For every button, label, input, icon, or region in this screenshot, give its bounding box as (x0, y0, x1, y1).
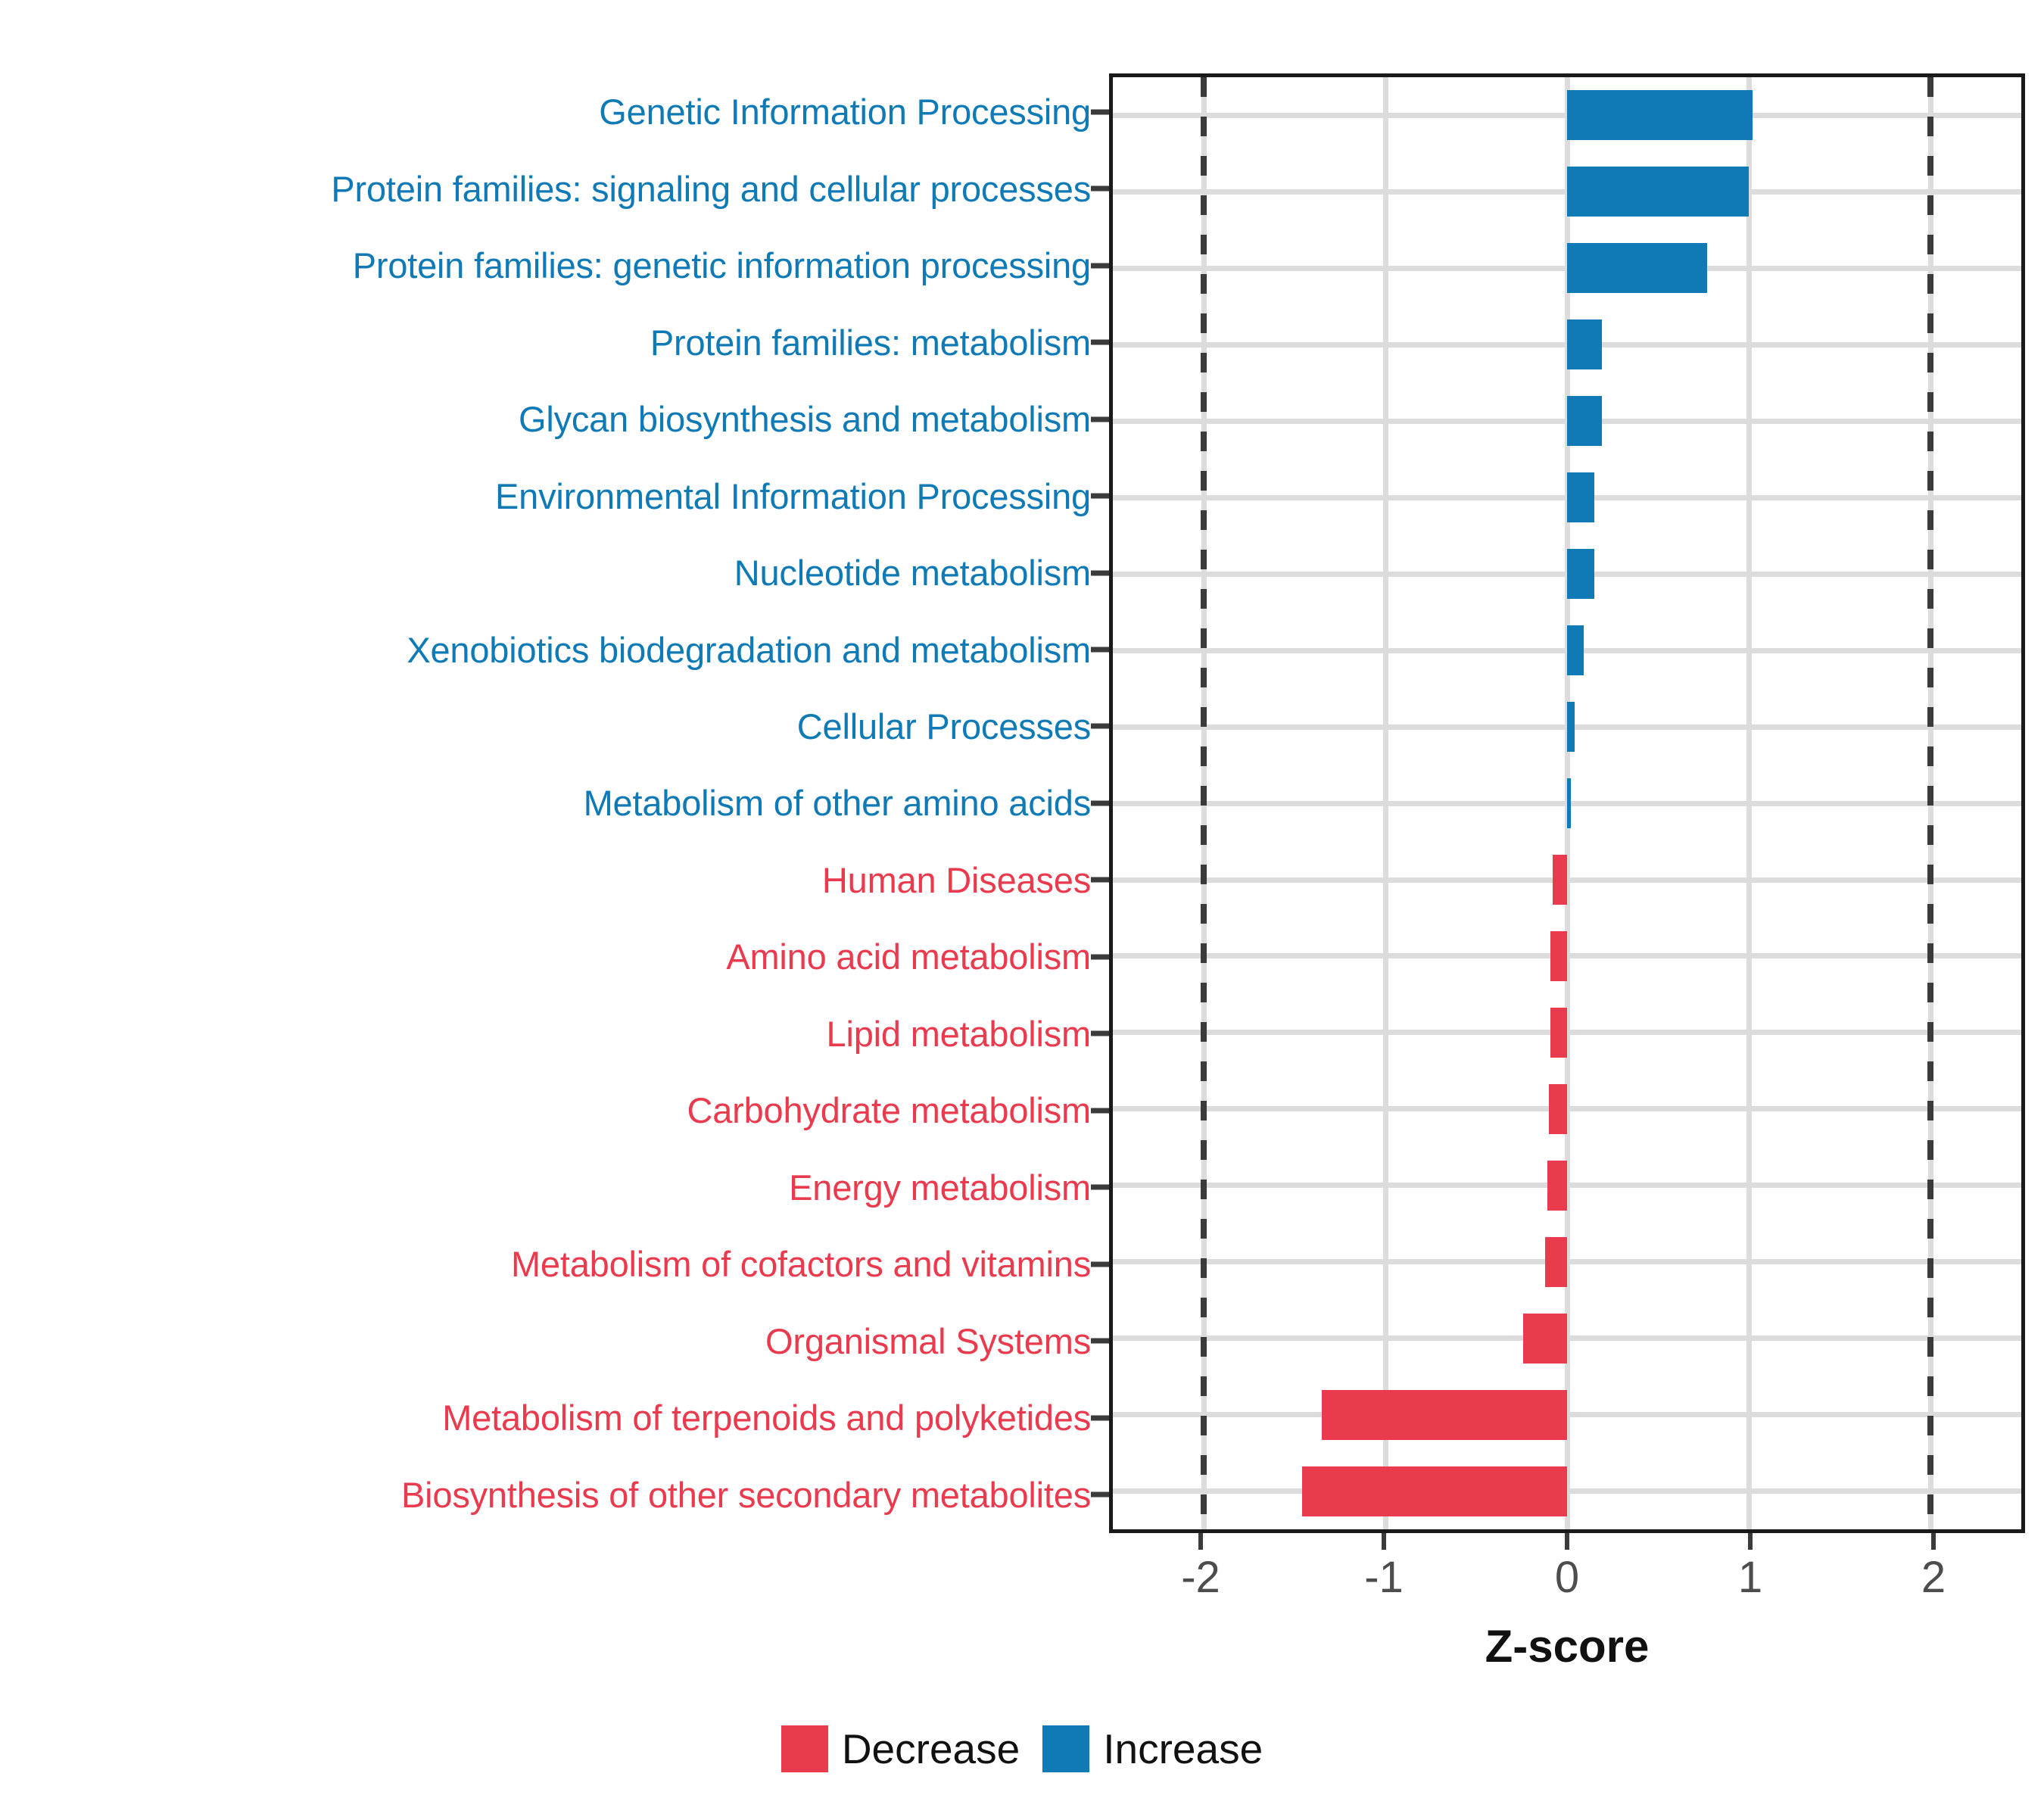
y-tick-mark (1091, 416, 1109, 422)
legend-item[interactable]: Increase (1042, 1725, 1263, 1773)
y-tick-row (1091, 227, 1109, 304)
y-tick-row (1091, 304, 1109, 380)
y-axis-label: Nucleotide metabolism (734, 555, 1091, 591)
y-tick-mark (1091, 1492, 1109, 1498)
y-tick-row (1091, 73, 1109, 150)
y-axis-label: Xenobiotics biodegradation and metabolis… (407, 632, 1091, 668)
x-tick-mark (1382, 1533, 1386, 1550)
plot-panel (1109, 73, 2025, 1533)
y-tick-mark (1091, 1415, 1109, 1420)
y-tick-mark (1091, 340, 1109, 345)
legend-label: Decrease (842, 1725, 1020, 1773)
y-tick-mark (1091, 1031, 1109, 1036)
bar-row (1113, 689, 2021, 765)
x-axis-title: Z-score (1109, 1620, 2025, 1672)
bar[interactable] (1567, 90, 1753, 140)
bar[interactable] (1567, 549, 1594, 599)
y-tick-row (1091, 996, 1109, 1072)
y-tick-row (1091, 535, 1109, 611)
bar[interactable] (1549, 1084, 1567, 1134)
y-axis-label: Lipid metabolism (827, 1016, 1091, 1052)
y-tick-mark (1091, 1108, 1109, 1113)
x-axis-tick-labels: -2-1012 (1109, 1552, 2025, 1605)
y-axis-label: Environmental Information Processing (495, 478, 1091, 514)
y-tick-row (1091, 457, 1109, 534)
y-tick-mark (1091, 1339, 1109, 1344)
y-tick-row (1091, 1149, 1109, 1226)
y-tick-mark (1091, 724, 1109, 729)
y-axis-label: Protein families: signaling and cellular… (331, 171, 1091, 207)
y-tick-mark (1091, 800, 1109, 806)
y-tick-row (1091, 1379, 1109, 1456)
bar-row (1113, 383, 2021, 460)
bar[interactable] (1545, 1237, 1567, 1287)
bar-series (1113, 77, 2021, 1529)
y-tick-row (1091, 688, 1109, 765)
bar-row (1113, 612, 2021, 689)
y-tick-mark (1091, 877, 1109, 883)
y-tick-row (1091, 1226, 1109, 1302)
x-tick-label: -1 (1364, 1552, 1404, 1603)
y-axis-label: Metabolism of terpenoids and polyketides (442, 1400, 1091, 1435)
y-axis-label: Carbohydrate metabolism (687, 1092, 1091, 1128)
chart-figure: Genetic Information ProcessingProtein fa… (0, 0, 2044, 1817)
y-axis-label: Energy metabolism (789, 1170, 1091, 1205)
bar-row (1113, 230, 2021, 307)
bar-row (1113, 77, 2021, 154)
y-tick-row (1091, 611, 1109, 687)
legend-label: Increase (1103, 1725, 1263, 1773)
y-axis-label: Human Diseases (822, 862, 1091, 898)
legend-swatch (1042, 1725, 1089, 1772)
y-tick-row (1091, 918, 1109, 995)
bar-row (1113, 307, 2021, 383)
y-axis-label-row: Xenobiotics biodegradation and metabolis… (0, 611, 1101, 687)
y-axis-label: Organismal Systems (765, 1323, 1091, 1359)
bar[interactable] (1547, 1161, 1567, 1211)
chart-legend: DecreaseIncrease (0, 1725, 2044, 1773)
x-tick-mark (1198, 1533, 1203, 1550)
y-tick-row (1091, 842, 1109, 918)
y-axis-label-row: Energy metabolism (0, 1149, 1101, 1226)
bar[interactable] (1302, 1466, 1567, 1516)
x-tick-label: 1 (1738, 1552, 1762, 1603)
bar[interactable] (1567, 243, 1707, 293)
y-axis-label-row: Protein families: signaling and cellular… (0, 150, 1101, 226)
y-tick-row (1091, 381, 1109, 457)
y-axis-label: Genetic Information Processing (599, 94, 1091, 129)
y-axis-label-row: Organismal Systems (0, 1303, 1101, 1379)
y-axis-label-row: Amino acid metabolism (0, 918, 1101, 995)
y-axis-label: Protein families: genetic information pr… (353, 248, 1091, 283)
y-axis-label-row: Metabolism of terpenoids and polyketides (0, 1379, 1101, 1456)
x-tick-label: -2 (1181, 1552, 1220, 1603)
x-tick-mark (1931, 1533, 1936, 1550)
y-tick-row (1091, 1456, 1109, 1532)
bar[interactable] (1523, 1314, 1567, 1364)
y-tick-mark (1091, 494, 1109, 499)
y-axis-labels: Genetic Information ProcessingProtein fa… (0, 73, 1101, 1533)
y-tick-mark (1091, 109, 1109, 114)
y-axis-label-row: Human Diseases (0, 842, 1101, 918)
x-tick-mark (1748, 1533, 1753, 1550)
bar-row (1113, 536, 2021, 612)
y-tick-row (1091, 1303, 1109, 1379)
bar-row (1113, 1453, 2021, 1529)
legend-item[interactable]: Decrease (781, 1725, 1020, 1773)
y-axis-label-row: Nucleotide metabolism (0, 535, 1101, 611)
y-axis-label: Protein families: metabolism (650, 325, 1091, 360)
y-tick-row (1091, 765, 1109, 841)
y-axis-label-row: Metabolism of cofactors and vitamins (0, 1226, 1101, 1302)
y-axis-label-row: Metabolism of other amino acids (0, 765, 1101, 841)
bar[interactable] (1550, 1008, 1567, 1058)
y-axis-label-row: Glycan biosynthesis and metabolism (0, 381, 1101, 457)
y-axis-label-row: Cellular Processes (0, 688, 1101, 765)
bar-row (1113, 1376, 2021, 1453)
y-tick-mark (1091, 1261, 1109, 1267)
y-axis-label-row: Environmental Information Processing (0, 457, 1101, 534)
bar-row (1113, 918, 2021, 994)
bar[interactable] (1567, 702, 1575, 752)
y-axis-label-row: Genetic Information Processing (0, 73, 1101, 150)
bar-row (1113, 1223, 2021, 1300)
bar[interactable] (1553, 855, 1567, 905)
y-axis-label-row: Lipid metabolism (0, 996, 1101, 1072)
y-axis-label: Amino acid metabolism (726, 939, 1091, 974)
y-axis-label: Metabolism of cofactors and vitamins (511, 1246, 1091, 1282)
bar[interactable] (1322, 1390, 1567, 1440)
bar[interactable] (1567, 625, 1584, 675)
x-axis-ticks (1109, 1533, 2025, 1550)
plot-area (1113, 77, 2021, 1529)
bar[interactable] (1567, 396, 1602, 446)
y-axis-label: Biosynthesis of other secondary metaboli… (401, 1477, 1091, 1513)
y-tick-mark (1091, 647, 1109, 653)
y-tick-mark (1091, 186, 1109, 192)
y-tick-mark (1091, 263, 1109, 268)
y-axis-label-row: Protein families: metabolism (0, 304, 1101, 380)
y-tick-mark (1091, 954, 1109, 959)
x-tick-mark (1565, 1533, 1569, 1550)
bar[interactable] (1567, 319, 1602, 369)
bar-row (1113, 154, 2021, 230)
y-tick-row (1091, 150, 1109, 226)
bar-row (1113, 460, 2021, 536)
y-axis-label-row: Protein families: genetic information pr… (0, 227, 1101, 304)
bar-row (1113, 842, 2021, 918)
bar-row (1113, 765, 2021, 842)
bar[interactable] (1550, 931, 1567, 981)
x-tick-label: 0 (1555, 1552, 1579, 1603)
bar[interactable] (1567, 778, 1571, 828)
bar[interactable] (1567, 472, 1594, 522)
bar-row (1113, 994, 2021, 1071)
y-tick-mark (1091, 1185, 1109, 1190)
bar-row (1113, 1147, 2021, 1223)
bar-row (1113, 1071, 2021, 1147)
y-tick-row (1091, 1072, 1109, 1148)
y-axis-ticks (1091, 73, 1109, 1533)
y-tick-mark (1091, 570, 1109, 575)
y-axis-label-row: Carbohydrate metabolism (0, 1072, 1101, 1148)
legend-swatch (781, 1725, 828, 1772)
y-axis-label: Metabolism of other amino acids (584, 785, 1091, 821)
bar[interactable] (1567, 167, 1749, 217)
x-tick-label: 2 (1921, 1552, 1946, 1603)
y-axis-label: Cellular Processes (797, 709, 1091, 744)
y-axis-label-row: Biosynthesis of other secondary metaboli… (0, 1456, 1101, 1532)
bar-row (1113, 1300, 2021, 1376)
y-axis-label: Glycan biosynthesis and metabolism (519, 401, 1091, 437)
